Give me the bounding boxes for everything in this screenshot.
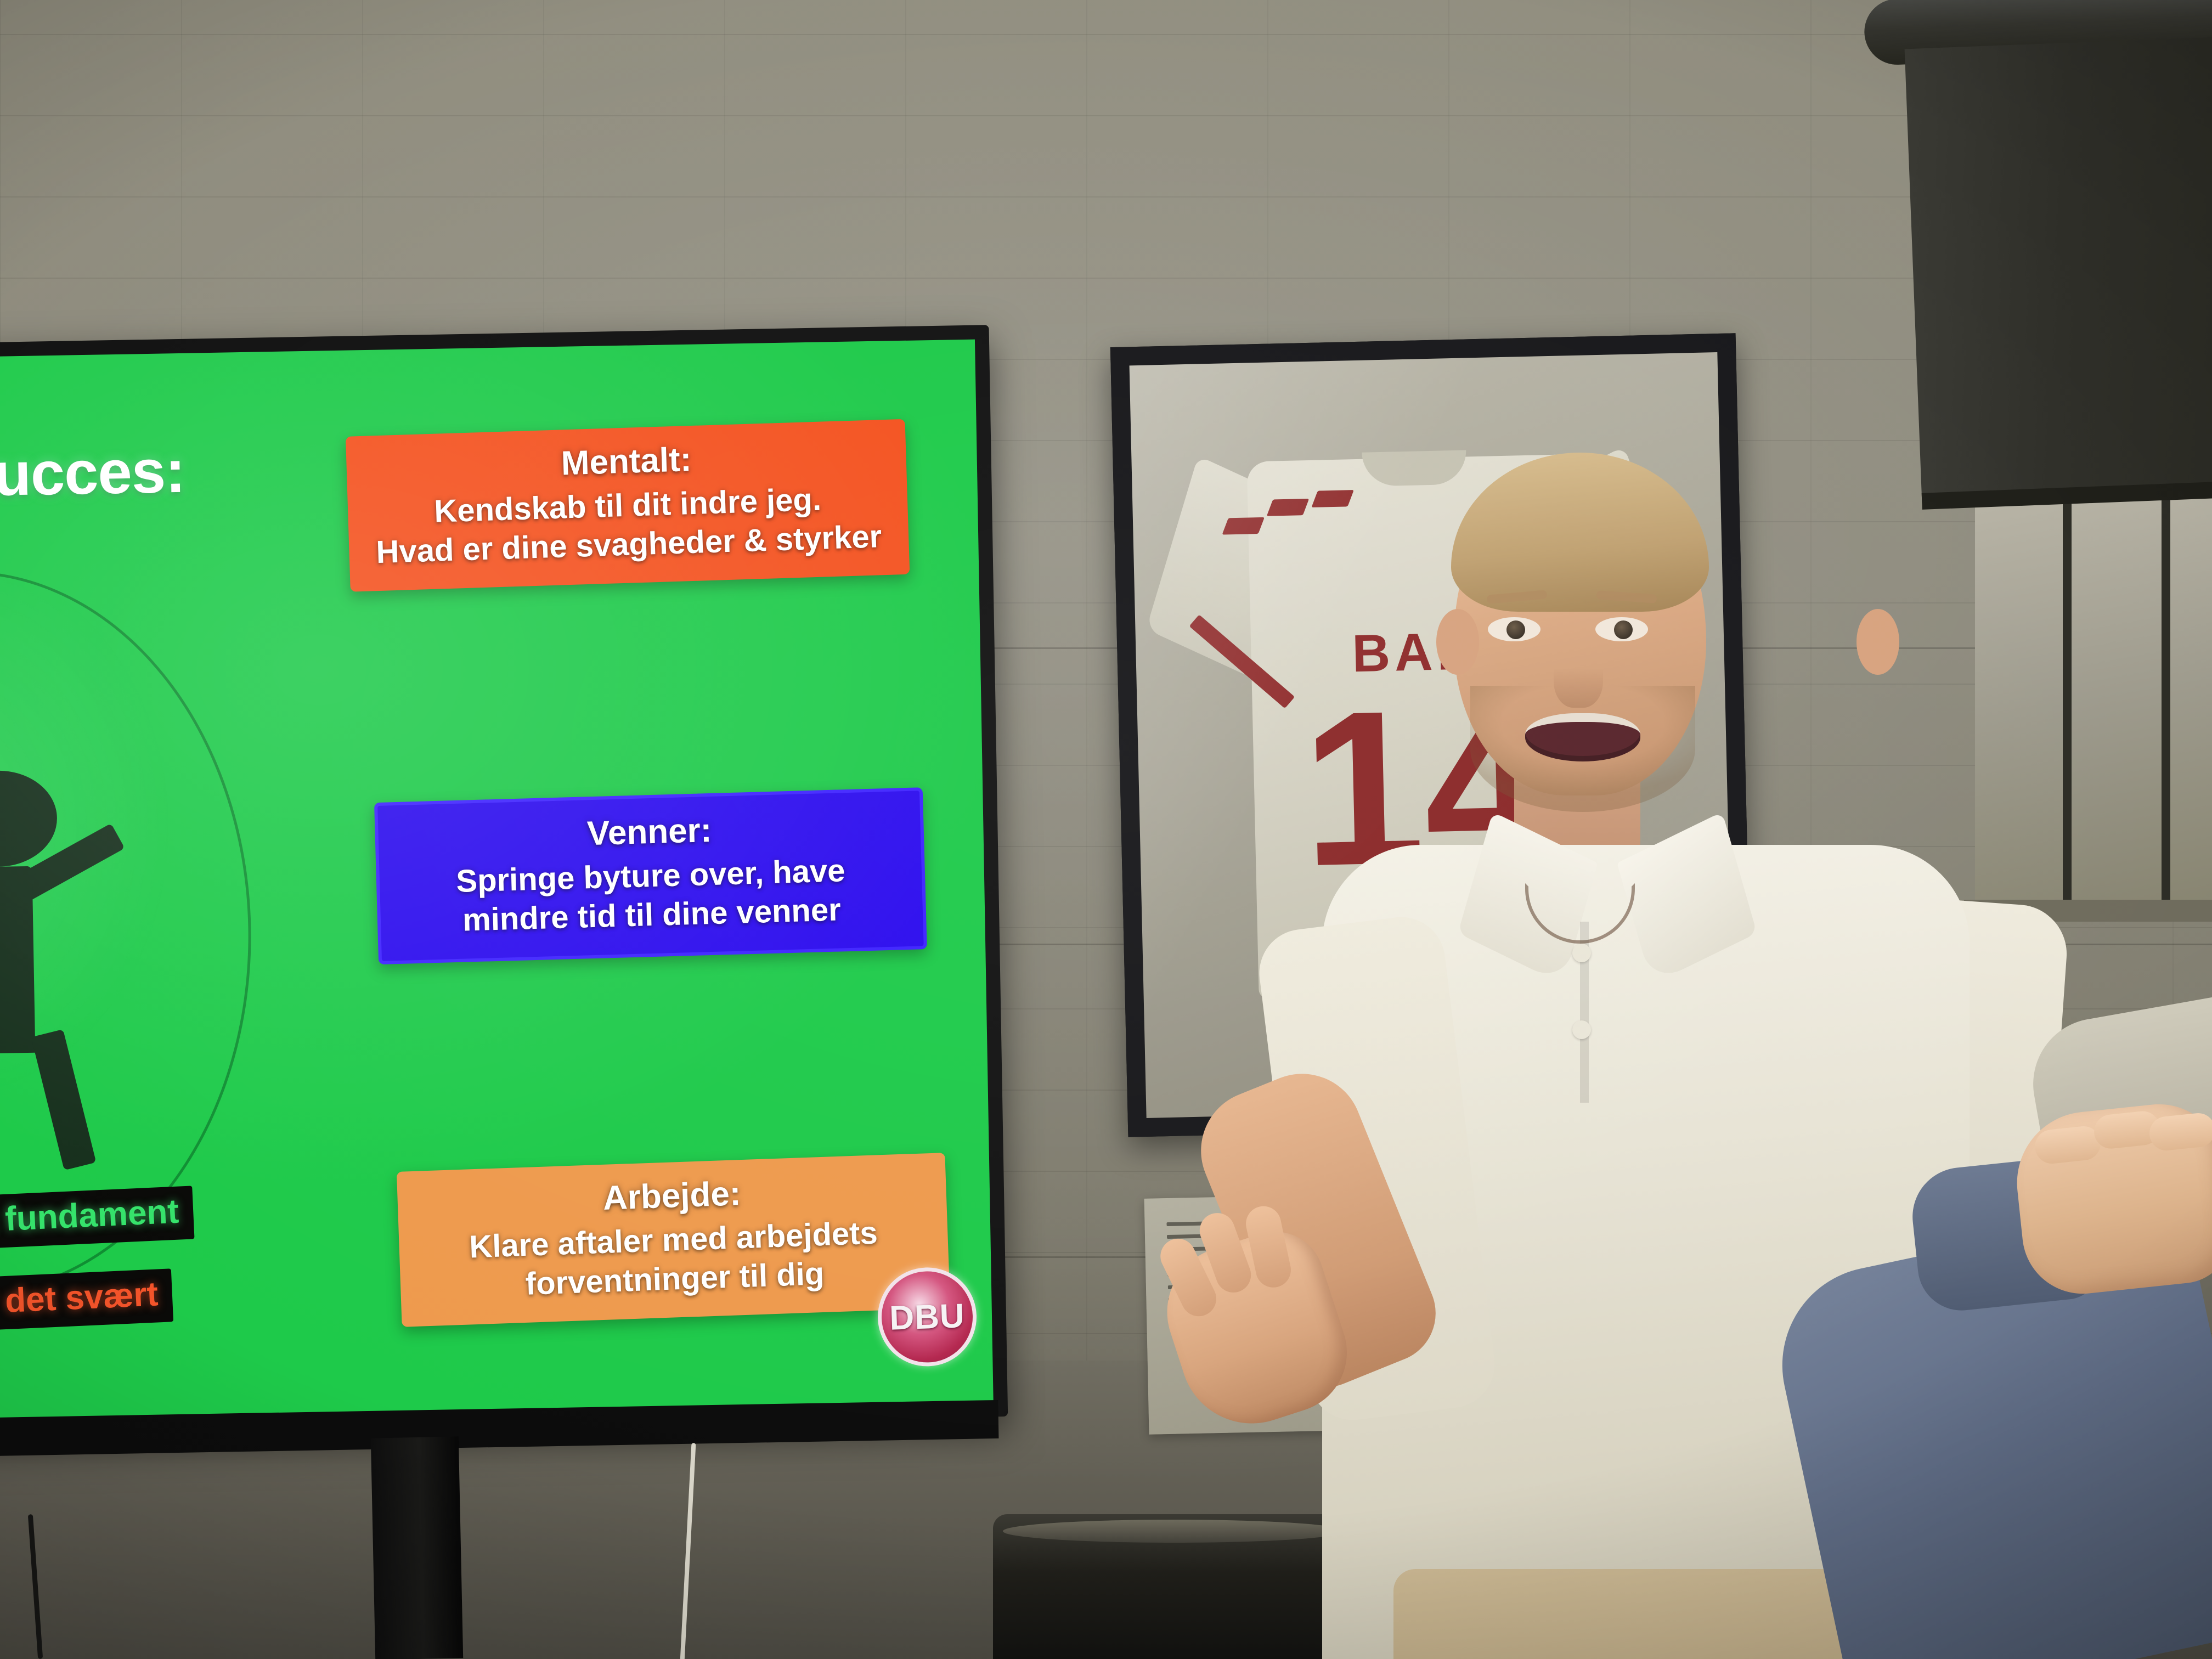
presenter-hair [1451,453,1709,612]
presenter-shirt-button [1572,1020,1591,1039]
audience-knuckle [2033,1125,2102,1165]
slide-box-arbejde: Arbejde: Klare aftaler med arbejdets for… [397,1153,950,1327]
slide-bottom-bar-orange: fundament og gør det svært [0,1268,173,1344]
stick-figure-leg-right [31,1029,97,1170]
slide-box-mentalt: Mentalt: Kendskab til dit indre jeg. Hva… [346,419,910,591]
audience-knuckle [2148,1111,2212,1152]
stick-figure-head [0,770,58,868]
photo-scene: BAH 14 𝒜𝓏 n til succes: [0,0,2212,1659]
wall-mounted-tv[interactable]: n til succes: Mentalt: Kendskab til dit … [0,325,1008,1436]
presenter-ear-right [1857,609,1899,675]
tv-screen[interactable]: n til succes: Mentalt: Kendskab til dit … [0,340,994,1422]
stick-figure-torso [0,866,35,1054]
presenter-shirt-button [1572,944,1591,962]
slide-box-venner: Venner: Springe byture over, have mindre… [374,787,927,964]
presenter-eye-right [1595,617,1648,641]
presentation-slide: n til succes: Mentalt: Kendskab til dit … [0,340,994,1422]
slide-title: n til succes: [0,436,185,512]
slide-box-heading: Venner: [394,805,905,859]
audience-person-foreground [1805,1075,2212,1659]
stick-figure-person-icon [0,769,132,1157]
presenter-mouth-open [1525,713,1640,761]
presenter-ear-left [1436,609,1479,675]
tv-stand-pole [371,1436,463,1659]
dbu-logo-text: DBU [889,1296,966,1338]
presenter-eye-left [1488,617,1541,641]
